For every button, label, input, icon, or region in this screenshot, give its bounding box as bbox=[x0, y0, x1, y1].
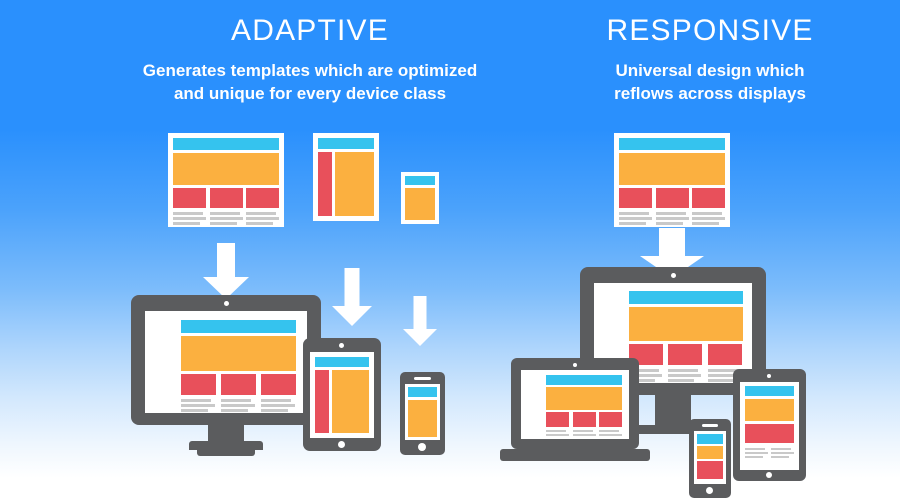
screen-text-line bbox=[745, 456, 763, 458]
adaptive-desktop-template bbox=[168, 133, 284, 227]
template-text-line bbox=[656, 222, 683, 225]
template-card-1 bbox=[619, 188, 652, 208]
template-text-line bbox=[656, 217, 689, 220]
phone-speaker-slot bbox=[414, 377, 431, 380]
screen-card-1 bbox=[181, 374, 216, 395]
template-text-line bbox=[619, 222, 646, 225]
adaptive-desktop-monitor bbox=[131, 295, 321, 460]
screen-text-line bbox=[221, 409, 248, 412]
adaptive-tablet bbox=[303, 338, 381, 451]
screen-text-line bbox=[573, 430, 593, 432]
screen-card-2 bbox=[221, 374, 256, 395]
screen-main-block bbox=[332, 370, 369, 433]
adaptive-column-heading: ADAPTIVE Generates templates which are o… bbox=[60, 16, 560, 106]
screen-text-line bbox=[181, 409, 208, 412]
infographic-canvas: ADAPTIVE Generates templates which are o… bbox=[0, 0, 900, 498]
template-card-2 bbox=[210, 188, 243, 208]
screen-card-2 bbox=[668, 344, 702, 365]
tablet-screen bbox=[310, 352, 374, 438]
template-text-line bbox=[692, 217, 725, 220]
screen-card-1 bbox=[745, 424, 794, 443]
template-card-3 bbox=[692, 188, 725, 208]
tablet-camera-dot bbox=[767, 374, 771, 378]
screen-header-bar bbox=[315, 357, 369, 367]
template-text-line bbox=[173, 222, 200, 225]
template-text-line bbox=[656, 212, 686, 215]
screen-text-line bbox=[771, 448, 791, 450]
template-text-line bbox=[619, 212, 649, 215]
laptop-screen bbox=[521, 370, 629, 439]
laptop-camera-dot bbox=[573, 363, 577, 367]
screen-card-2 bbox=[573, 412, 596, 427]
tablet-home-button[interactable] bbox=[766, 472, 772, 478]
responsive-column-heading: RESPONSIVE Universal design which reflow… bbox=[540, 16, 880, 106]
phone-home-button[interactable] bbox=[706, 487, 713, 494]
screen-main-block bbox=[408, 400, 437, 437]
screen-text-line bbox=[599, 430, 619, 432]
adaptive-subtitle-line2: and unique for every device class bbox=[60, 83, 560, 106]
template-text-line bbox=[210, 217, 243, 220]
template-header-bar bbox=[619, 138, 725, 150]
arrow-to-tablet bbox=[332, 268, 372, 326]
responsive-smartphone bbox=[689, 419, 731, 498]
screen-text-line bbox=[181, 404, 215, 407]
template-sidebar-block bbox=[318, 152, 332, 216]
screen-text-line bbox=[546, 430, 566, 432]
screen-hero-block bbox=[181, 336, 296, 371]
arrow-to-monitor bbox=[203, 243, 249, 299]
screen-text-line bbox=[771, 456, 789, 458]
screen-card-1 bbox=[546, 412, 569, 427]
screen-card-3 bbox=[599, 412, 622, 427]
screen-text-line bbox=[668, 374, 701, 377]
template-hero-block bbox=[619, 153, 725, 185]
screen-hero-block bbox=[546, 387, 622, 410]
template-text-line bbox=[210, 212, 240, 215]
template-header-bar bbox=[405, 176, 435, 185]
screen-text-line bbox=[573, 434, 596, 436]
screen-header-bar bbox=[408, 387, 437, 397]
phone-screen bbox=[694, 431, 726, 484]
screen-text-line bbox=[181, 399, 211, 402]
tablet-camera-dot bbox=[339, 343, 344, 348]
responsive-subtitle-line2: reflows across displays bbox=[540, 83, 880, 106]
screen-text-line bbox=[668, 379, 694, 382]
template-text-line bbox=[246, 212, 276, 215]
screen-text-line bbox=[599, 434, 622, 436]
template-header-bar bbox=[173, 138, 279, 150]
template-header-bar bbox=[318, 138, 374, 149]
monitor-camera-dot bbox=[671, 273, 676, 278]
phone-speaker-slot bbox=[702, 424, 718, 427]
template-card-3 bbox=[246, 188, 279, 208]
template-text-line bbox=[173, 217, 206, 220]
screen-text-line bbox=[771, 452, 794, 454]
laptop-base bbox=[500, 449, 650, 461]
adaptive-subtitle-line1: Generates templates which are optimized bbox=[60, 60, 560, 83]
screen-hero-block bbox=[629, 307, 743, 341]
responsive-title: RESPONSIVE bbox=[540, 16, 880, 46]
responsive-subtitle-line1: Universal design which bbox=[540, 60, 880, 83]
monitor-stand-foot bbox=[197, 450, 255, 456]
screen-header-bar bbox=[546, 375, 622, 385]
screen-text-line bbox=[708, 379, 734, 382]
screen-card-1 bbox=[697, 461, 723, 479]
screen-card-3 bbox=[708, 344, 742, 365]
screen-text-line bbox=[221, 404, 255, 407]
screen-text-line bbox=[745, 448, 765, 450]
screen-text-line bbox=[261, 409, 288, 412]
template-hero-block bbox=[173, 153, 279, 185]
template-text-line bbox=[692, 222, 719, 225]
responsive-laptop bbox=[500, 358, 650, 468]
template-main-block bbox=[335, 152, 374, 216]
phone-home-button[interactable] bbox=[418, 443, 426, 451]
monitor-stand-base bbox=[189, 441, 263, 450]
screen-text-line bbox=[261, 399, 291, 402]
monitor-camera-dot bbox=[224, 301, 229, 306]
template-main-block bbox=[405, 188, 435, 220]
screen-header-bar bbox=[745, 386, 794, 396]
monitor-screen bbox=[145, 311, 307, 413]
screen-hero-block bbox=[745, 399, 794, 421]
phone-screen bbox=[405, 384, 440, 440]
template-card-1 bbox=[173, 188, 206, 208]
template-text-line bbox=[246, 217, 279, 220]
template-text-line bbox=[210, 222, 237, 225]
adaptive-smartphone bbox=[400, 372, 445, 455]
screen-header-bar bbox=[629, 291, 743, 304]
adaptive-title: ADAPTIVE bbox=[60, 16, 560, 46]
screen-text-line bbox=[546, 434, 569, 436]
responsive-tablet bbox=[733, 369, 806, 481]
tablet-screen bbox=[740, 382, 799, 470]
screen-hero-block bbox=[697, 446, 723, 459]
screen-header-bar bbox=[181, 320, 296, 333]
monitor-stand-neck bbox=[655, 395, 691, 427]
tablet-home-button[interactable] bbox=[338, 441, 345, 448]
screen-text-line bbox=[261, 404, 295, 407]
screen-sidebar-block bbox=[315, 370, 329, 433]
template-card-2 bbox=[656, 188, 689, 208]
screen-card-3 bbox=[261, 374, 296, 395]
screen-header-bar bbox=[697, 434, 723, 444]
template-text-line bbox=[692, 212, 722, 215]
template-text-line bbox=[246, 222, 273, 225]
responsive-universal-template bbox=[614, 133, 730, 227]
screen-text-line bbox=[745, 452, 768, 454]
screen-text-line bbox=[668, 369, 698, 372]
adaptive-phone-template bbox=[401, 172, 439, 224]
adaptive-tablet-template bbox=[313, 133, 379, 221]
template-text-line bbox=[619, 217, 652, 220]
screen-text-line bbox=[221, 399, 251, 402]
template-text-line bbox=[173, 212, 203, 215]
arrow-to-phone bbox=[403, 296, 437, 346]
